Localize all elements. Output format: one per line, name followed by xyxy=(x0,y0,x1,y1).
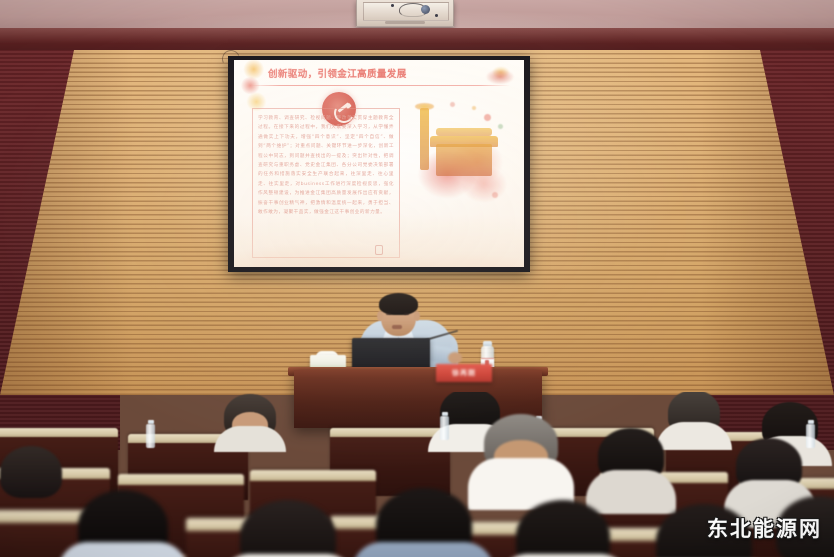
conference-photo: 创新驱动，引领金江高质量发展 学习教育、调查研究、检视问题、整改落实贯穿主题教育… xyxy=(0,0,834,557)
water-bottle xyxy=(806,424,815,448)
chair-headrest xyxy=(250,470,376,481)
speaker-hand xyxy=(448,352,462,364)
chair-headrest xyxy=(118,474,244,485)
attendee-shirt xyxy=(586,470,676,514)
attendee-shirt xyxy=(58,542,188,557)
speaker-ear-left xyxy=(377,311,383,321)
nameplate: 徐再刚 xyxy=(436,364,492,382)
speaker-ear-right xyxy=(414,311,420,321)
chair-headrest xyxy=(0,428,118,437)
projector-lens-icon xyxy=(421,5,430,14)
screen-glare xyxy=(234,60,524,267)
nameplate-text: 徐再刚 xyxy=(452,368,476,378)
speaker-eye-left xyxy=(386,313,391,315)
speaker-hair xyxy=(379,293,418,315)
attendee-head xyxy=(0,446,62,498)
water-bottle-cap xyxy=(148,420,154,424)
attendee-shirt xyxy=(214,426,286,452)
projection-screen: 创新驱动，引领金江高质量发展 学习教育、调查研究、检视问题、整改落实贯穿主题教育… xyxy=(234,60,524,267)
water-bottle-cap xyxy=(442,412,448,416)
water-bottle xyxy=(146,424,155,448)
ceiling-projector xyxy=(356,0,454,27)
projector-screw-icon xyxy=(391,4,394,7)
attendee-shirt xyxy=(352,542,494,557)
speaker-eye-right xyxy=(404,313,409,315)
speaker-mouth xyxy=(392,325,402,329)
attendee-shirt xyxy=(656,422,732,450)
water-bottle-cap xyxy=(808,420,814,424)
projector-bracket xyxy=(385,21,425,24)
site-watermark: 东北能源网 xyxy=(707,513,822,543)
projector-screw-icon xyxy=(435,14,438,17)
water-bottle xyxy=(440,416,449,440)
